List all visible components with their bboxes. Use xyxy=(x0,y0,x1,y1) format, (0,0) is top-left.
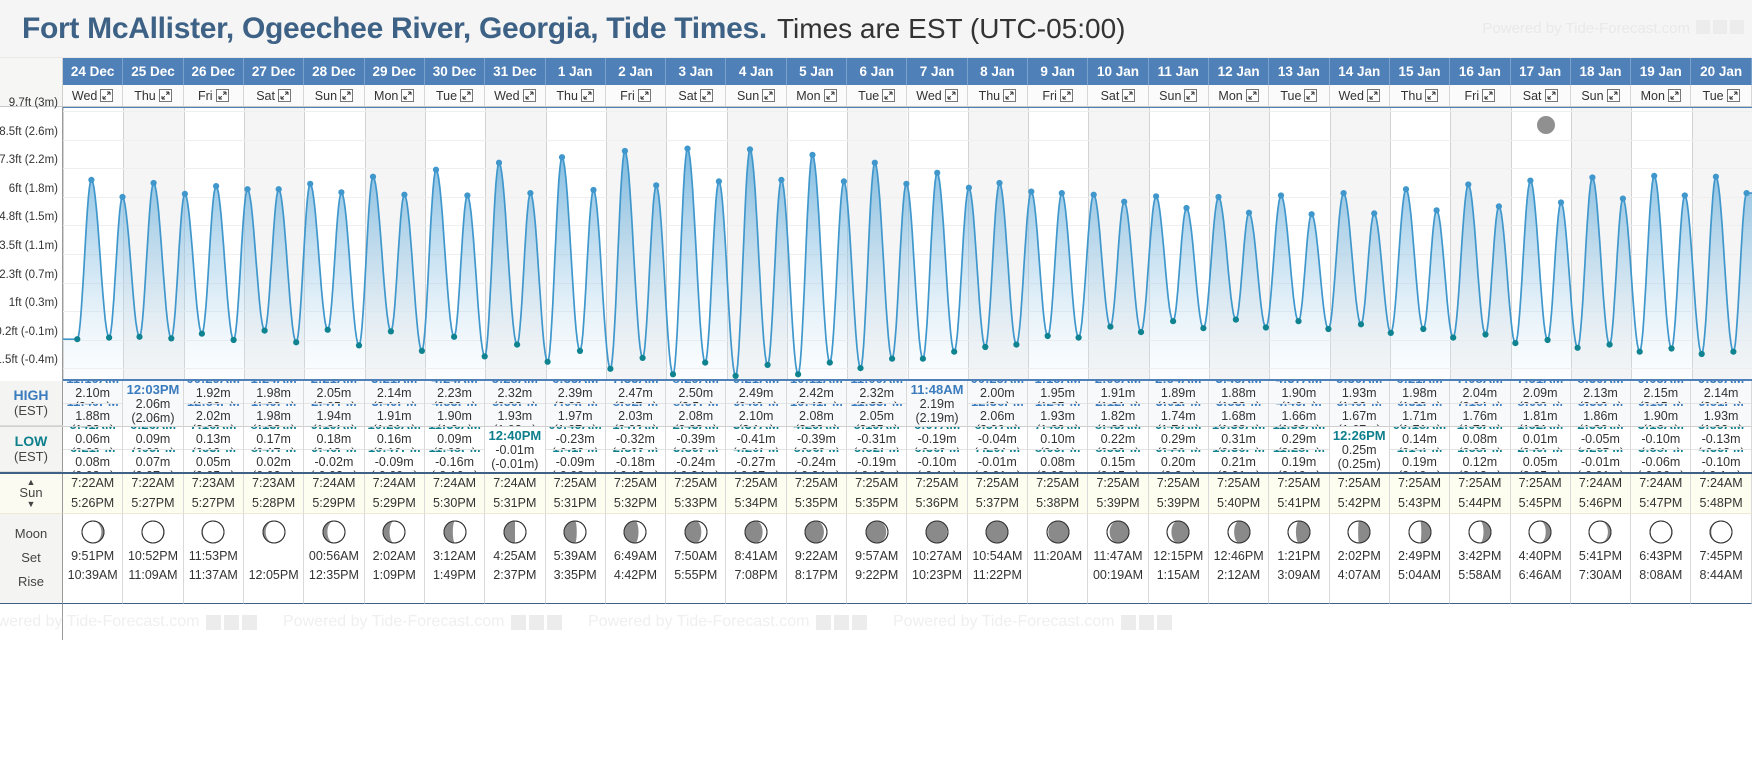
low-tide-point xyxy=(1388,330,1394,336)
low-tide-point xyxy=(1138,329,1144,335)
high-tide-point xyxy=(872,160,878,166)
high-tide-cell-5: 3:21AM2.14m(2.14m)3:49PM1.91m(1.91m) xyxy=(365,381,425,426)
sun-cell-2: 7:23AM5:27PM xyxy=(184,474,244,514)
low-tide-cell-1: 6:26AM0.09m(0.09m)7:05PM0.07m(0.07m) xyxy=(123,427,183,472)
high-tide-event: 00:25AM2.00m(2m) xyxy=(968,381,1027,403)
date-header-8[interactable]: 1 Jan xyxy=(546,58,606,85)
moonrise-time: 4:42PM xyxy=(614,566,657,585)
low-tide-point xyxy=(231,337,237,343)
tide-height-m: 1.68m xyxy=(1221,409,1256,423)
date-header-7[interactable]: 31 Dec xyxy=(485,58,545,85)
tide-graph-row: 9.7ft (3m)8.5ft (2.6m)7.3ft (2.2m)6ft (1… xyxy=(0,107,1752,381)
tide-height-m: 1.94m xyxy=(317,409,352,423)
tide-height-m: -0.18m xyxy=(616,455,655,469)
high-tide-point xyxy=(716,178,722,184)
moonset-time: 10:54AM xyxy=(972,547,1022,566)
date-header-26[interactable]: 19 Jan xyxy=(1631,58,1691,85)
tide-height-m: 0.06m xyxy=(75,432,110,446)
date-label: 26 Dec xyxy=(192,64,236,79)
sun-times: 7:24AM5:29PM xyxy=(312,474,355,513)
high-tide-event: 2:12PM1.82m(1.82m) xyxy=(1088,403,1147,426)
low-tide-point xyxy=(1325,326,1331,332)
low-tide-point xyxy=(733,373,739,379)
date-header-15[interactable]: 8 Jan xyxy=(968,58,1028,85)
tide-height-m: -0.24m xyxy=(676,455,715,469)
moon-phase-icon xyxy=(321,519,347,545)
low-tide-event: 7:20PM-0.01m(-0.01m) xyxy=(968,449,1027,472)
tide-height-m: 2.13m xyxy=(1583,386,1618,400)
low-tide-point xyxy=(1482,331,1488,337)
tide-height-m: 2.10m xyxy=(739,409,774,423)
high-tide-cell-3: 1:24AM1.98m(1.98m)1:49PM1.98m(1.98m) xyxy=(244,381,304,426)
low-tide-event: 8:47PM0.02m(0.02m) xyxy=(244,449,303,472)
day-of-week-label: Sun xyxy=(315,89,337,103)
moonset-time: 9:57AM xyxy=(855,547,898,566)
high-tide-event: 7:04PM1.97m(1.97m) xyxy=(546,403,605,426)
tide-height-paren: (-0.24m) xyxy=(793,469,840,473)
tide-height-paren: (1.88m) xyxy=(71,423,114,427)
low-tide-point xyxy=(545,359,551,365)
expand-icon[interactable] xyxy=(1607,89,1620,102)
tide-height-m: 2.32m xyxy=(859,386,894,400)
high-tide-event: 12:54PM2.02m(2.02m) xyxy=(184,403,243,426)
tide-height-m: 1.76m xyxy=(1462,409,1497,423)
day-of-week-cell-0: Wed xyxy=(63,85,123,106)
expand-icon[interactable] xyxy=(1003,89,1016,102)
tide-height-m: -0.41m xyxy=(737,432,776,446)
day-of-week-label: Sun xyxy=(1581,89,1603,103)
moonset-time: 00:56AM xyxy=(309,547,359,566)
powered-by-watermark: Powered by Tide-Forecast.com xyxy=(1482,20,1690,37)
low-tide-event: 6:26AM0.09m(0.09m) xyxy=(123,427,182,449)
high-tide-event: 8:02PM2.03m(2.03m) xyxy=(606,403,665,426)
date-header-6[interactable]: 30 Dec xyxy=(425,58,485,85)
tide-height-m: 0.09m xyxy=(136,432,171,446)
expand-icon[interactable] xyxy=(700,89,713,102)
expand-icon[interactable] xyxy=(1668,89,1681,102)
tide-height-m: 2.09m xyxy=(1523,386,1558,400)
expand-icon[interactable] xyxy=(945,89,958,102)
moon-phase-icon xyxy=(1346,519,1372,545)
wind-badge-icon xyxy=(1696,20,1710,34)
day-of-week-label: Mon xyxy=(374,89,398,103)
expand-icon[interactable] xyxy=(1425,89,1438,102)
high-tide-cell-24: 7:51AM2.09m(2.09m)8:00PM1.81m(1.81m) xyxy=(1511,381,1571,426)
tide-height-paren: (1.93m) xyxy=(1700,423,1743,427)
low-tide-event: 9:46PM-0.02m(-0.02m) xyxy=(304,449,363,472)
date-header-0[interactable]: 24 Dec xyxy=(63,58,123,85)
low-tide-event: 6:57AM-0.04m(-0.04m) xyxy=(968,427,1027,449)
sun-times: 7:25AM5:45PM xyxy=(1519,474,1562,513)
tide-height-m: -0.06m xyxy=(1641,455,1680,469)
tide-height-m: -0.19m xyxy=(857,455,896,469)
tide-height-m: 2.05m xyxy=(317,386,352,400)
date-label: 31 Dec xyxy=(493,64,537,79)
sun-times: 7:22AM5:27PM xyxy=(131,474,174,513)
moonrise-time: 1:15AM xyxy=(1153,566,1203,585)
moonrise-label: Rise xyxy=(18,575,44,590)
y-axis-tick-label-0: 9.7ft (3m) xyxy=(9,97,58,109)
sun-cell-26: 7:24AM5:47PM xyxy=(1631,474,1691,514)
moon-phase-icon xyxy=(1587,519,1613,545)
tide-height-m: 1.86m xyxy=(1583,409,1618,423)
date-label: 28 Dec xyxy=(312,64,356,79)
sunset-time: 5:29PM xyxy=(373,494,416,513)
tide-height-paren: (2.02m) xyxy=(192,423,235,427)
moon-phase-icon xyxy=(200,519,226,545)
date-header-4[interactable]: 28 Dec xyxy=(304,58,364,85)
moon-times: 11:20AM xyxy=(1033,547,1082,585)
date-header-16[interactable]: 9 Jan xyxy=(1028,58,1088,85)
tide-height-m: 1.93m xyxy=(1040,409,1075,423)
hover-cursor-marker[interactable] xyxy=(1537,116,1555,134)
tide-height-m: 2.02m xyxy=(196,409,231,423)
tide-height-m: 2.47m xyxy=(618,386,653,400)
tide-height-m: 1.88m xyxy=(1221,386,1256,400)
moonrise-time: 5:55PM xyxy=(674,566,717,585)
expand-icon[interactable] xyxy=(1727,89,1740,102)
moon-phase-icon xyxy=(442,519,468,545)
moonset-time: 12:46PM xyxy=(1214,547,1264,566)
day-of-week-cell-15: Thu xyxy=(968,85,1028,106)
tide-height-paren: (1.68m) xyxy=(1217,423,1260,427)
tide-height-m: 0.08m xyxy=(1040,455,1075,469)
low-tide-point xyxy=(1607,342,1613,348)
sunset-time: 5:39PM xyxy=(1157,494,1200,513)
expand-icon[interactable] xyxy=(1060,89,1073,102)
day-of-week-cell-9: Fri xyxy=(606,85,666,106)
moon-label: Moon xyxy=(15,527,48,542)
tide-height-paren: (1.76m) xyxy=(1458,423,1501,427)
sunset-time: 5:33PM xyxy=(674,494,717,513)
date-header-21[interactable]: 14 Jan xyxy=(1330,58,1390,85)
low-tide-point xyxy=(827,360,833,366)
low-tide-point xyxy=(1170,318,1176,324)
day-of-week-label: Sat xyxy=(1523,89,1542,103)
low-tide-event: 11:28PM0.19m(0.19m) xyxy=(1269,449,1328,472)
warning-badge-icon xyxy=(547,615,562,630)
expand-icon[interactable] xyxy=(523,89,536,102)
expand-icon[interactable] xyxy=(159,89,172,102)
expand-icon[interactable] xyxy=(460,89,473,102)
moonrise-time: 10:23PM xyxy=(912,566,962,585)
low-tide-event: 3:18AM-0.10m(-0.1m) xyxy=(1631,427,1690,449)
tide-height-m: 0.15m xyxy=(1101,455,1136,469)
moon-phase-icon xyxy=(1105,519,1131,545)
low-tide-point xyxy=(1107,324,1113,330)
low-tide-event: 10:36PM0.21m(0.21m) xyxy=(1209,449,1268,472)
high-tide-cell-25: 8:30AM2.13m(2.13m)8:39PM1.86m(1.86m) xyxy=(1571,381,1631,426)
date-header-12[interactable]: 5 Jan xyxy=(787,58,847,85)
day-of-week-cell-19: Mon xyxy=(1209,85,1269,106)
tide-height-m: 2.05m xyxy=(859,409,894,423)
day-of-week-label: Sat xyxy=(256,89,275,103)
expand-icon[interactable] xyxy=(1482,89,1495,102)
high-tide-point xyxy=(244,186,250,192)
expand-icon[interactable] xyxy=(1304,89,1317,102)
moon-times: 5:39AM3:35PM xyxy=(554,547,597,585)
date-header-9[interactable]: 2 Jan xyxy=(606,58,666,85)
date-label: 4 Jan xyxy=(739,64,774,79)
low-tide-event: 7:16AM0.13m(0.13m) xyxy=(184,427,243,449)
day-of-week-cell-13: Tue xyxy=(847,85,907,106)
high-tide-event: 3:53PM1.68m(1.68m) xyxy=(1209,403,1268,426)
tide-height-m: 0.01m xyxy=(1523,432,1558,446)
moon-times: 6:49AM4:42PM xyxy=(614,547,657,585)
high-tide-point xyxy=(1527,178,1533,184)
high-tide-cell-4: 2:21AM2.05m(2.05m)2:47PM1.94m(1.94m) xyxy=(304,381,364,426)
expand-icon[interactable] xyxy=(824,89,837,102)
warning-badge-icon xyxy=(852,615,867,630)
low-label-tz: (EST) xyxy=(14,450,48,465)
tide-height-m: 1.98m xyxy=(256,409,291,423)
high-tide-point xyxy=(1341,190,1347,196)
moonrise-time: 1:49PM xyxy=(433,566,476,585)
tide-height-m: -0.02m xyxy=(314,455,353,469)
expand-icon[interactable] xyxy=(762,89,775,102)
tide-height-m: 0.17m xyxy=(256,432,291,446)
sunrise-time: 7:22AM xyxy=(71,474,114,493)
tide-height-m: -0.19m xyxy=(918,432,957,446)
tide-height-m: -0.13m xyxy=(1702,432,1741,446)
expand-icon[interactable] xyxy=(1367,89,1380,102)
day-of-week-row: WedThuFriSatSunMonTueWedThuFriSatSunMonT… xyxy=(0,85,1752,107)
date-label: 3 Jan xyxy=(679,64,714,79)
tide-height-m: 1.89m xyxy=(1161,386,1196,400)
day-of-week-cell-23: Fri xyxy=(1450,85,1510,106)
date-header-2[interactable]: 26 Dec xyxy=(184,58,244,85)
moon-cell-6: 3:12AM1:49PM xyxy=(425,514,485,604)
moonrise-time: 12:05PM xyxy=(249,566,299,585)
high-tide-event: 4:53PM1.90m(1.9m) xyxy=(425,403,484,426)
date-header-24[interactable]: 17 Jan xyxy=(1511,58,1571,85)
day-of-week-label: Fri xyxy=(198,89,213,103)
footer-watermark-1: Powered by Tide-Forecast.com xyxy=(283,613,562,631)
high-tide-event: 9:21AM2.49m(2.49m) xyxy=(726,381,785,403)
high-tide-event: 5:28AM2.32m(2.32m) xyxy=(485,381,544,403)
low-tide-event: 9:19AM0.18m(0.18m) xyxy=(304,427,363,449)
sunrise-time: 7:25AM xyxy=(855,474,898,493)
day-of-week-label: Thu xyxy=(979,89,1001,103)
tide-height-m: -0.16m xyxy=(435,455,474,469)
sunset-time: 5:41PM xyxy=(1277,494,1320,513)
date-header-25[interactable]: 18 Jan xyxy=(1571,58,1631,85)
low-tide-event: 9:40AM0.29m(0.29m) xyxy=(1149,427,1208,449)
day-of-week-label: Mon xyxy=(1218,89,1242,103)
tide-height-paren: (0.05m) xyxy=(192,469,235,473)
moon-cell-23: 3:42PM5:58AM xyxy=(1450,514,1510,604)
high-tide-point xyxy=(1589,174,1595,180)
sun-times: 7:24AM5:29PM xyxy=(373,474,416,513)
day-of-week-cell-1: Thu xyxy=(123,85,183,106)
expand-icon[interactable] xyxy=(581,89,594,102)
date-header-18[interactable]: 11 Jan xyxy=(1149,58,1209,85)
date-header-13[interactable]: 6 Jan xyxy=(847,58,907,85)
footer-watermark-text: Powered by Tide-Forecast.com xyxy=(893,613,1114,631)
moonset-time: 2:49PM xyxy=(1398,547,1441,566)
expand-icon[interactable] xyxy=(340,89,353,102)
date-header-corner xyxy=(0,58,63,85)
date-header-20[interactable]: 13 Jan xyxy=(1269,58,1329,85)
low-tide-cell-6: 11:36AM0.09m(0.09m)11:48PM-0.16m(-0.16m) xyxy=(425,427,485,472)
expand-icon[interactable] xyxy=(882,89,895,102)
moon-row: Moon Set Rise 9:51PM10:39AM10:52PM11:09A… xyxy=(0,514,1752,604)
date-header-11[interactable]: 4 Jan xyxy=(726,58,786,85)
moon-cell-27: 7:45PM8:44AM xyxy=(1691,514,1751,604)
date-label: 17 Jan xyxy=(1519,64,1561,79)
tide-height-m: 2.10m xyxy=(75,386,110,400)
moon-times: 10:54AM11:22PM xyxy=(972,547,1022,585)
tide-height-paren: (1.9m) xyxy=(436,423,472,427)
moon-phase-icon xyxy=(1045,519,1071,545)
tide-height-m: -0.01m xyxy=(1581,455,1620,469)
date-label: 12 Jan xyxy=(1218,64,1260,79)
day-of-week-label: Thu xyxy=(1401,89,1423,103)
tide-height-m: -0.04m xyxy=(978,432,1017,446)
high-tide-cell-16: 1:15AM1.95m(1.95m)1:24PM1.93m(1.93m) xyxy=(1028,381,1088,426)
moon-times: 3:12AM1:49PM xyxy=(433,547,476,585)
low-tide-event: 8:05PM0.08m(0.08m) xyxy=(1028,449,1087,472)
footer-badges xyxy=(1121,615,1172,630)
high-tide-event: 12:03PM2.06m(2.06m) xyxy=(123,381,182,426)
high-tide-point xyxy=(590,187,596,193)
high-tide-event: 1:24AM1.98m(1.98m) xyxy=(244,381,303,403)
low-tide-point xyxy=(1637,349,1643,355)
low-tide-cell-16: 7:48AM0.10m(0.1m)8:05PM0.08m(0.08m) xyxy=(1028,427,1088,472)
date-header-3[interactable]: 27 Dec xyxy=(244,58,304,85)
date-header-19[interactable]: 12 Jan xyxy=(1209,58,1269,85)
expand-icon[interactable] xyxy=(1184,89,1197,102)
sunset-time: 5:27PM xyxy=(131,494,174,513)
expand-icon[interactable] xyxy=(401,89,414,102)
sun-cell-12: 7:25AM5:35PM xyxy=(787,474,847,514)
moon-times: 5:41PM7:30AM xyxy=(1579,547,1622,585)
sunset-time: 5:34PM xyxy=(735,494,778,513)
day-of-week-label: Sun xyxy=(737,89,759,103)
moon-times: 10:27AM10:23PM xyxy=(912,547,962,585)
y-axis-tick-label-8: -0.2ft (-0.1m) xyxy=(0,326,58,338)
tide-height-m: -0.10m xyxy=(1702,455,1741,469)
sun-times: 7:24AM5:31PM xyxy=(493,474,536,513)
day-of-week-label: Tue xyxy=(1703,89,1724,103)
date-header-23[interactable]: 16 Jan xyxy=(1450,58,1510,85)
day-of-week-cell-22: Thu xyxy=(1390,85,1450,106)
sunrise-time: 7:24AM xyxy=(1579,474,1622,493)
moon-cell-1: 10:52PM11:09AM xyxy=(123,514,183,604)
low-tide-event: 11:35AM0.29m(0.29m) xyxy=(1269,427,1328,449)
date-label: 29 Dec xyxy=(372,64,416,79)
sun-times: 7:25AM5:35PM xyxy=(795,474,838,513)
high-label-tz: (EST) xyxy=(14,404,48,419)
sun-cell-21: 7:25AM5:42PM xyxy=(1330,474,1390,514)
day-of-week-label: Tue xyxy=(1280,89,1301,103)
refresh-badge-icon xyxy=(224,615,239,630)
tide-height-m: 0.18m xyxy=(317,432,352,446)
low-tide-event: 12:40PM-0.01m(-0.01m) xyxy=(485,427,544,472)
low-tide-cell-24: 1:52AM0.01m(0.01m)2:40PM0.05m(0.05m) xyxy=(1511,427,1571,472)
expand-icon[interactable] xyxy=(278,89,291,102)
high-tide-point xyxy=(809,152,815,158)
date-label: 18 Jan xyxy=(1579,64,1621,79)
high-tide-event: 00:29AM1.92m(1.92m) xyxy=(184,381,243,403)
moon-times: 7:50AM5:55PM xyxy=(674,547,717,585)
sun-times: 7:25AM5:44PM xyxy=(1458,474,1501,513)
high-tide-point xyxy=(401,192,407,198)
expand-icon[interactable] xyxy=(100,89,113,102)
date-header-27[interactable]: 20 Jan xyxy=(1691,58,1751,85)
expand-icon[interactable] xyxy=(1122,89,1135,102)
low-tide-point xyxy=(482,353,488,359)
sun-cell-1: 7:22AM5:27PM xyxy=(123,474,183,514)
low-tide-cell-14: 6:07AM-0.19m(-0.19m)6:36PM-0.10m(-0.1m) xyxy=(907,427,967,472)
high-tide-cell-9: 7:33AM2.47m(2.47m)8:02PM2.03m(2.03m) xyxy=(606,381,666,426)
high-tide-point xyxy=(1651,173,1657,179)
date-header-14[interactable]: 7 Jan xyxy=(907,58,967,85)
date-header-10[interactable]: 3 Jan xyxy=(666,58,726,85)
sunrise-time: 7:23AM xyxy=(192,474,235,493)
expand-icon[interactable] xyxy=(216,89,229,102)
moonrise-time xyxy=(1033,566,1082,585)
y-axis-tick-label-5: 3.5ft (1.1m) xyxy=(0,240,58,252)
tide-height-m: 0.05m xyxy=(196,455,231,469)
sun-times: 7:25AM5:43PM xyxy=(1398,474,1441,513)
moonrise-time: 6:46AM xyxy=(1519,566,1562,585)
sunset-time: 5:37PM xyxy=(976,494,1019,513)
low-tide-cell-19: 10:39AM0.31m(0.31m)10:36PM0.21m(0.21m) xyxy=(1209,427,1269,472)
sunrise-time: 7:25AM xyxy=(1458,474,1501,493)
tide-height-m: 2.19m xyxy=(920,397,955,411)
date-header-1[interactable]: 25 Dec xyxy=(123,58,183,85)
date-header-17[interactable]: 10 Jan xyxy=(1088,58,1148,85)
date-label: 27 Dec xyxy=(252,64,296,79)
moon-phase-icon xyxy=(1165,519,1191,545)
tide-height-m: 1.90m xyxy=(437,409,472,423)
day-of-week-cell-11: Sun xyxy=(726,85,786,106)
high-tide-event: 9:49PM2.10m(2.1m) xyxy=(726,403,785,426)
tide-height-m: -0.31m xyxy=(857,432,896,446)
expand-icon[interactable] xyxy=(1545,89,1558,102)
sunrise-time: 7:24AM xyxy=(1700,474,1743,493)
day-of-week-label: Sat xyxy=(678,89,697,103)
sunrise-time: 7:25AM xyxy=(674,474,717,493)
tide-height-paren: (2.03m) xyxy=(614,423,657,427)
high-tide-cell-23: 7:08AM2.04m(2.04m)7:18PM1.76m(1.76m) xyxy=(1450,381,1510,426)
tide-height-paren: (-0.09m) xyxy=(371,469,418,473)
high-tide-event: 11:48AM2.19m(2.19m) xyxy=(907,381,966,426)
tide-height-paren: (2.08m) xyxy=(795,423,838,427)
expand-icon[interactable] xyxy=(1246,89,1259,102)
low-tide-point xyxy=(136,334,142,340)
tide-height-m: -0.32m xyxy=(616,432,655,446)
high-tide-event: 8:39PM1.86m(1.86m) xyxy=(1571,403,1630,426)
low-tide-event: 2:36AM-0.05m(-0.05m) xyxy=(1571,427,1630,449)
moon-times: 12:05PM xyxy=(249,547,299,585)
moonrise-time: 2:37PM xyxy=(493,566,536,585)
expand-icon[interactable] xyxy=(638,89,651,102)
date-header-5[interactable]: 29 Dec xyxy=(365,58,425,85)
high-tide-row-label: HIGH (EST) xyxy=(0,381,63,426)
low-tide-cell-15: 6:57AM-0.04m(-0.04m)7:20PM-0.01m(-0.01m) xyxy=(968,427,1028,472)
sunset-time: 5:39PM xyxy=(1096,494,1139,513)
y-axis-tick-label-2: 7.3ft (2.2m) xyxy=(0,154,58,166)
date-header-22[interactable]: 15 Jan xyxy=(1390,58,1450,85)
low-tide-event: 12:26PM0.25m(0.25m) xyxy=(1330,427,1389,472)
footer-watermark-text: Powered by Tide-Forecast.com xyxy=(0,613,199,631)
y-axis-tick-label-9: -1.5ft (-0.4m) xyxy=(0,354,58,366)
tide-height-m: 1.67m xyxy=(1342,409,1377,423)
high-tide-event: 5:30AM1.93m(1.93m) xyxy=(1330,381,1389,403)
sun-cell-0: 7:22AM5:26PM xyxy=(63,474,123,514)
